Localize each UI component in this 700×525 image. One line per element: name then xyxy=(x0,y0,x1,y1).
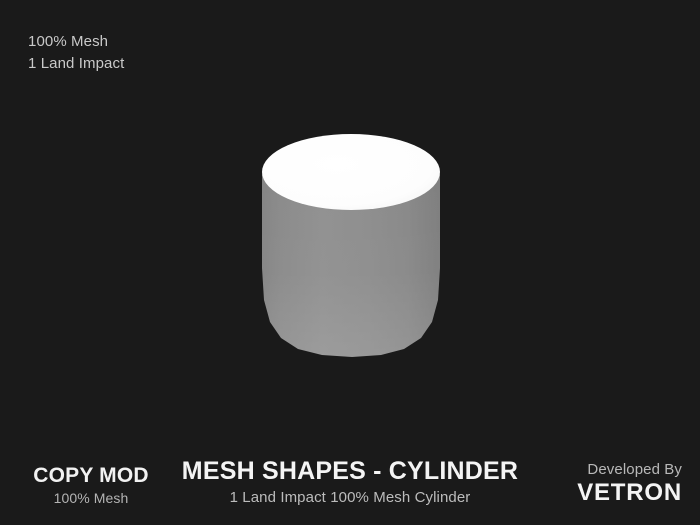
cylinder-top-face xyxy=(262,134,440,210)
product-title: MESH SHAPES - CYLINDER xyxy=(150,458,550,486)
cylinder-3d-model xyxy=(0,0,700,440)
product-subtitle: 1 Land Impact 100% Mesh Cylinder xyxy=(150,488,550,508)
product-image-canvas: 100% Mesh 1 Land Impact xyxy=(0,0,700,525)
bottom-banner: COPY MOD 100% Mesh MESH SHAPES - CYLINDE… xyxy=(0,447,700,525)
product-title-block: MESH SHAPES - CYLINDER 1 Land Impact 100… xyxy=(150,458,550,507)
developer-block: Developed By VETRON xyxy=(577,460,682,507)
cylinder-render-area xyxy=(0,0,700,440)
developer-label: Developed By xyxy=(577,460,682,480)
developer-brand-name: VETRON xyxy=(577,479,682,507)
